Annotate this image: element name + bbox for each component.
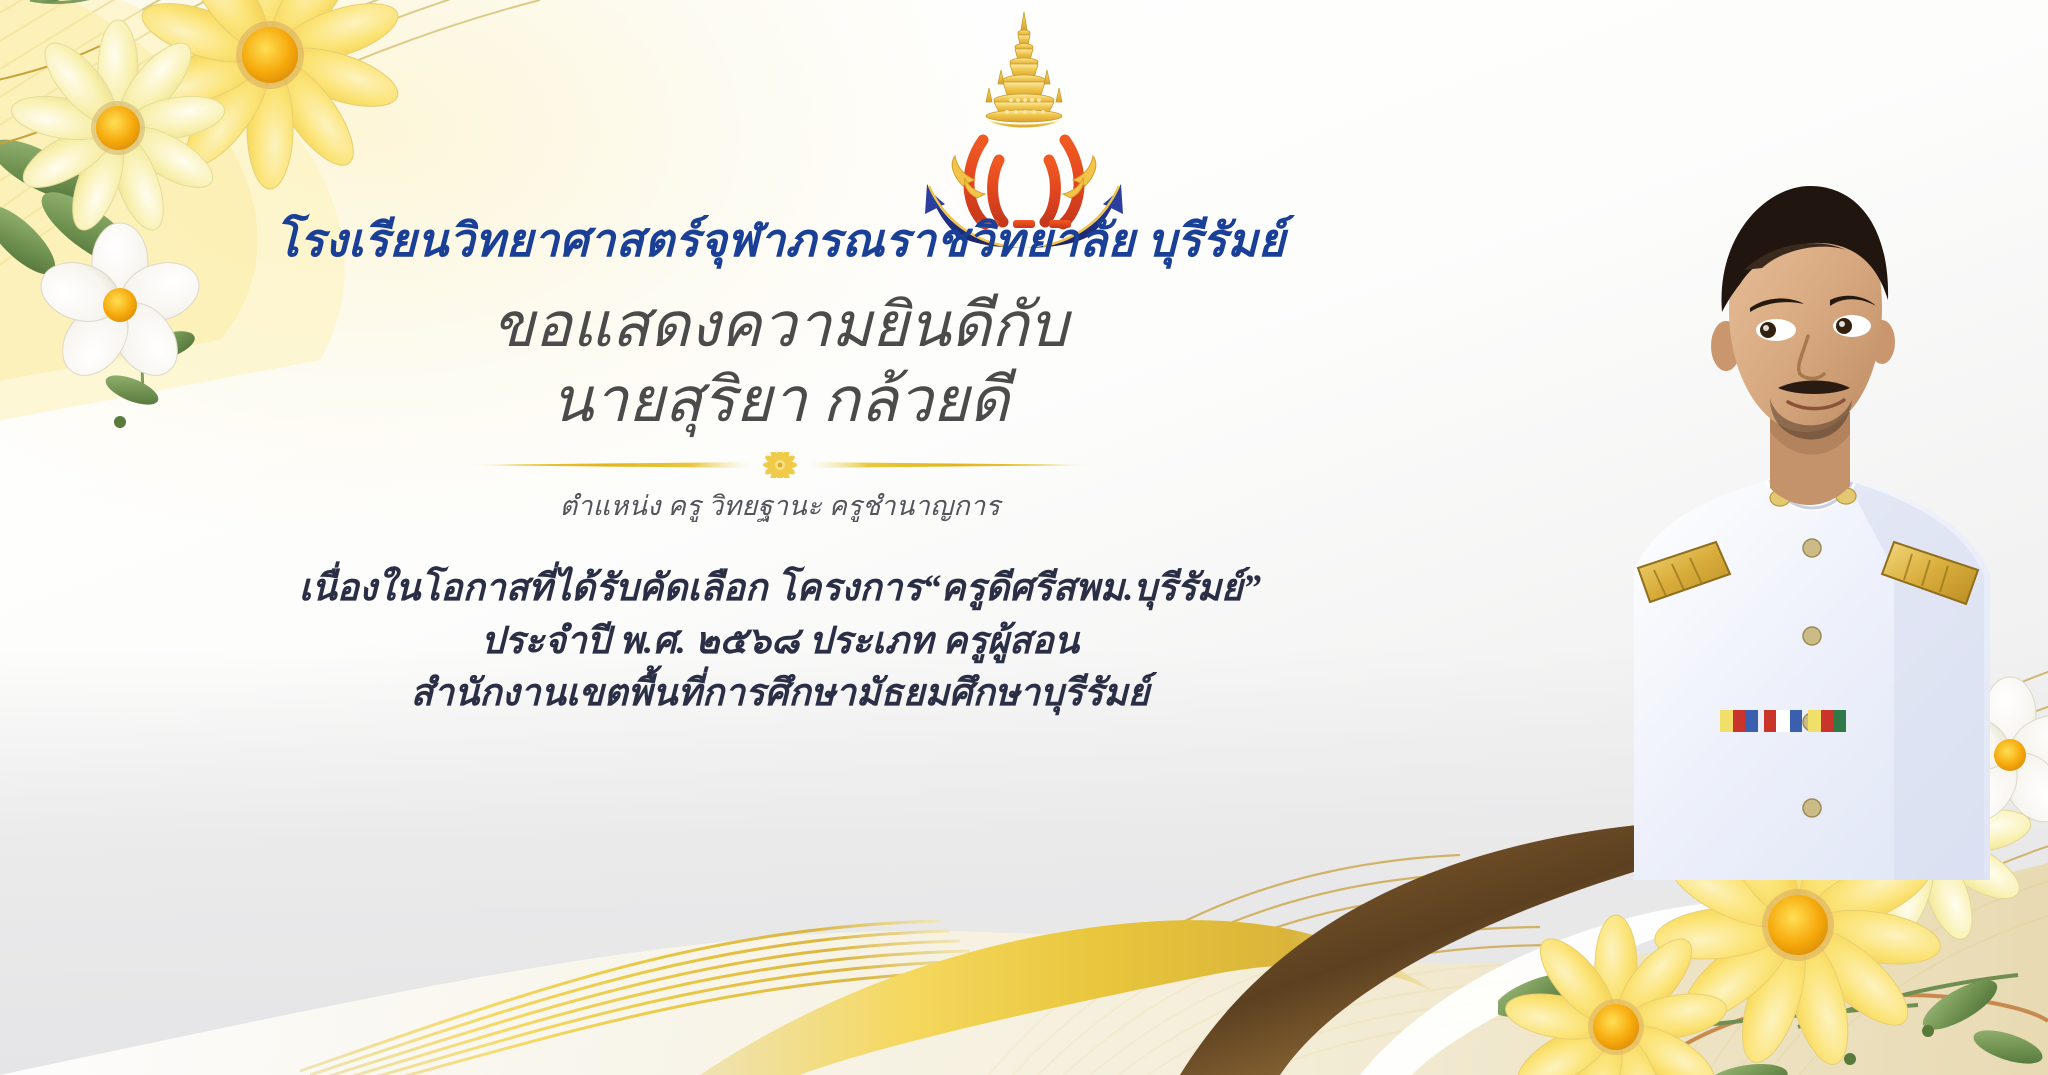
award-line-2: ประจำปี พ.ศ. ๒๕๖๘ ประเภท ครูผู้สอน — [0, 616, 1560, 669]
congratulations-heading: ขอแสดงความยินดีกับ — [0, 290, 1560, 363]
banner-text-block: โรงเรียนวิทยาศาสตร์จุฬาภรณราชวิทยาลัย บุ… — [0, 215, 1560, 721]
honoree-portrait — [1594, 150, 2024, 880]
award-line-1: เนื่องในโอกาสที่ได้รับคัดเลือก โครงการ“ค… — [0, 563, 1560, 616]
honoree-name: นายสุริยา กล้วยดี — [0, 365, 1560, 438]
school-name: โรงเรียนวิทยาศาสตร์จุฬาภรณราชวิทยาลัย บุ… — [0, 215, 1560, 268]
award-description: เนื่องในโอกาสที่ได้รับคัดเลือก โครงการ“ค… — [0, 563, 1560, 721]
award-line-3: สำนักงานเขตพื้นที่การศึกษามัธยมศึกษาบุรี… — [0, 668, 1560, 721]
gold-divider-ornament — [460, 452, 1100, 478]
congratulation-banner: โรงเรียนวิทยาศาสตร์จุฬาภรณราชวิทยาลัย บุ… — [0, 0, 2048, 1075]
emblem-ribbon-text: โรงเรียนวิทยาศาสตร์จุฬาภรณราชวิทยาลัย บุ… — [919, 8, 1109, 248]
position-line: ตำแหน่ง ครู วิทยฐานะ ครูชำนาญการ — [0, 484, 1560, 527]
school-emblem-icon: โรงเรียนวิทยาศาสตร์จุฬาภรณราชวิทยาลัย บุ… — [919, 8, 1129, 248]
